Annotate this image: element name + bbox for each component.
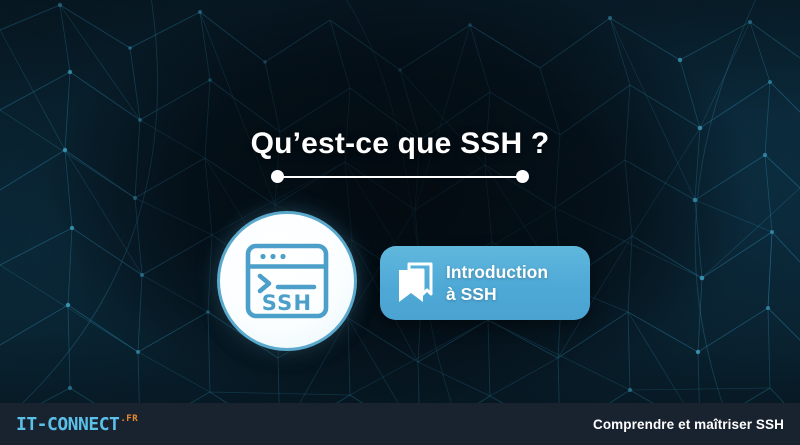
- footer-bar: IT-CONNECT .FR Comprendre et maîtriser S…: [0, 403, 800, 445]
- introduction-badge[interactable]: Introduction à SSH: [380, 246, 590, 320]
- title-divider: [271, 170, 529, 184]
- divider-line: [277, 176, 523, 178]
- it-connect-logo[interactable]: IT-CONNECT .FR: [16, 414, 138, 435]
- background-mesh-pattern: [0, 0, 800, 445]
- ssh-icon-label: SSH: [262, 291, 312, 315]
- logo-wordmark: IT-CONNECT: [16, 414, 119, 435]
- slide-canvas: Qu’est-ce que SSH ? SSH: [0, 0, 800, 445]
- bookmark-icon: [397, 262, 433, 304]
- logo-tld: .FR: [120, 415, 138, 424]
- introduction-badge-label: Introduction à SSH: [446, 261, 548, 306]
- badge-line-1: Introduction: [446, 262, 548, 282]
- divider-dot-right: [516, 170, 529, 183]
- footer-tagline: Comprendre et maîtriser SSH: [593, 417, 784, 432]
- page-title: Qu’est-ce que SSH ?: [0, 127, 800, 161]
- ssh-terminal-icon: SSH: [217, 211, 357, 351]
- badge-line-2: à SSH: [446, 284, 497, 304]
